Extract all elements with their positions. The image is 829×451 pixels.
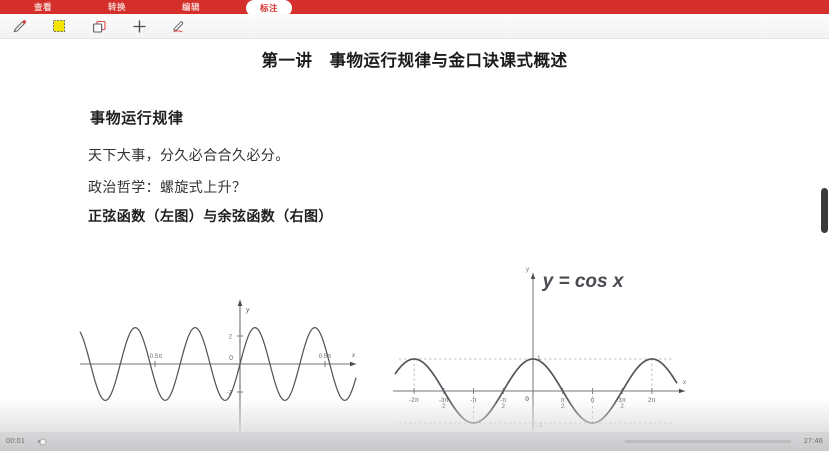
svg-text:-π: -π xyxy=(470,397,476,404)
add-tool-button[interactable] xyxy=(124,15,154,37)
body-line-2: 政治哲学：螺旋式上升？ xyxy=(88,177,246,197)
cosine-chart-svg: y = cos x -2π-3π2-π-π20π2π3π22π 1 -1 0 xyxy=(385,239,695,432)
cosine-axes xyxy=(393,273,685,431)
seek-bar[interactable] xyxy=(38,440,791,443)
cosine-chart: y = cos x -2π-3π2-π-π20π2π3π22π 1 -1 0 xyxy=(385,239,695,432)
add-icon xyxy=(131,18,148,35)
sine-chart: -0.5π 0.5π 2 -2 0 y x xyxy=(80,294,365,432)
cosine-y-axis-label: y xyxy=(525,267,530,273)
shape-tool-button[interactable] xyxy=(84,15,114,37)
sine-axes xyxy=(80,300,356,432)
vertical-scrollbar-thumb[interactable] xyxy=(821,188,828,233)
tab-annotate[interactable]: 标注 xyxy=(246,0,292,14)
tab-edit[interactable]: 编辑 xyxy=(172,0,210,14)
buffered-range xyxy=(38,440,625,443)
svg-text:π2: π2 xyxy=(561,397,565,410)
pdf-reader-window: 查看 转换 编辑 标注 xyxy=(0,0,829,451)
svg-text:0: 0 xyxy=(229,355,233,362)
total-time-label: 27:46 xyxy=(797,438,823,445)
cosine-x-axis-label: x xyxy=(682,380,687,386)
sine-y-axis-label: y xyxy=(245,307,250,314)
body-line-3: 正弦函数（左图）与余弦函数（右图） xyxy=(88,206,333,226)
shape-icon xyxy=(91,18,108,35)
svg-text:2π: 2π xyxy=(648,397,656,404)
tab-view[interactable]: 查看 xyxy=(24,0,62,14)
svg-text:-0.5π: -0.5π xyxy=(148,354,162,360)
section-heading: 事物运行规律 xyxy=(90,107,184,128)
pencil-icon xyxy=(11,18,28,35)
cosine-y-tick-min: -1 xyxy=(537,422,543,429)
signature-tool-button[interactable] xyxy=(164,15,194,37)
cosine-origin-label: 0 xyxy=(525,396,529,403)
top-tab-bar: 查看 转换 编辑 标注 xyxy=(0,0,829,14)
signature-icon xyxy=(170,18,188,35)
svg-text:-2π: -2π xyxy=(409,397,419,404)
current-time-label: 00:01 xyxy=(6,438,32,445)
tab-convert[interactable]: 转换 xyxy=(98,0,136,14)
document-page[interactable]: 第一讲 事物运行规律与金口诀课式概述 事物运行规律 天下大事，分久必合合久必分。… xyxy=(0,39,829,432)
svg-text:2: 2 xyxy=(229,335,233,341)
highlight-square-icon xyxy=(51,18,67,34)
svg-text:0.5π: 0.5π xyxy=(319,354,331,360)
cosine-chart-title: y = cos x xyxy=(542,271,625,292)
sine-chart-svg: -0.5π 0.5π 2 -2 0 y x xyxy=(80,294,365,432)
annotation-toolbar xyxy=(0,14,829,39)
highlight-tool-button[interactable] xyxy=(44,15,74,37)
svg-text:π: π xyxy=(590,397,594,404)
svg-text:-π2: -π2 xyxy=(500,397,506,410)
svg-text:3π2: 3π2 xyxy=(618,397,626,410)
sine-x-axis-label: x xyxy=(351,353,356,359)
svg-text:-3π2: -3π2 xyxy=(439,397,449,410)
page-title: 第一讲 事物运行规律与金口诀课式概述 xyxy=(0,47,829,71)
seek-handle[interactable] xyxy=(39,438,46,445)
video-player-bar: 00:01 27:46 xyxy=(0,432,829,451)
pencil-tool-button[interactable] xyxy=(4,15,34,37)
body-line-1: 天下大事，分久必合合久必分。 xyxy=(88,145,290,165)
